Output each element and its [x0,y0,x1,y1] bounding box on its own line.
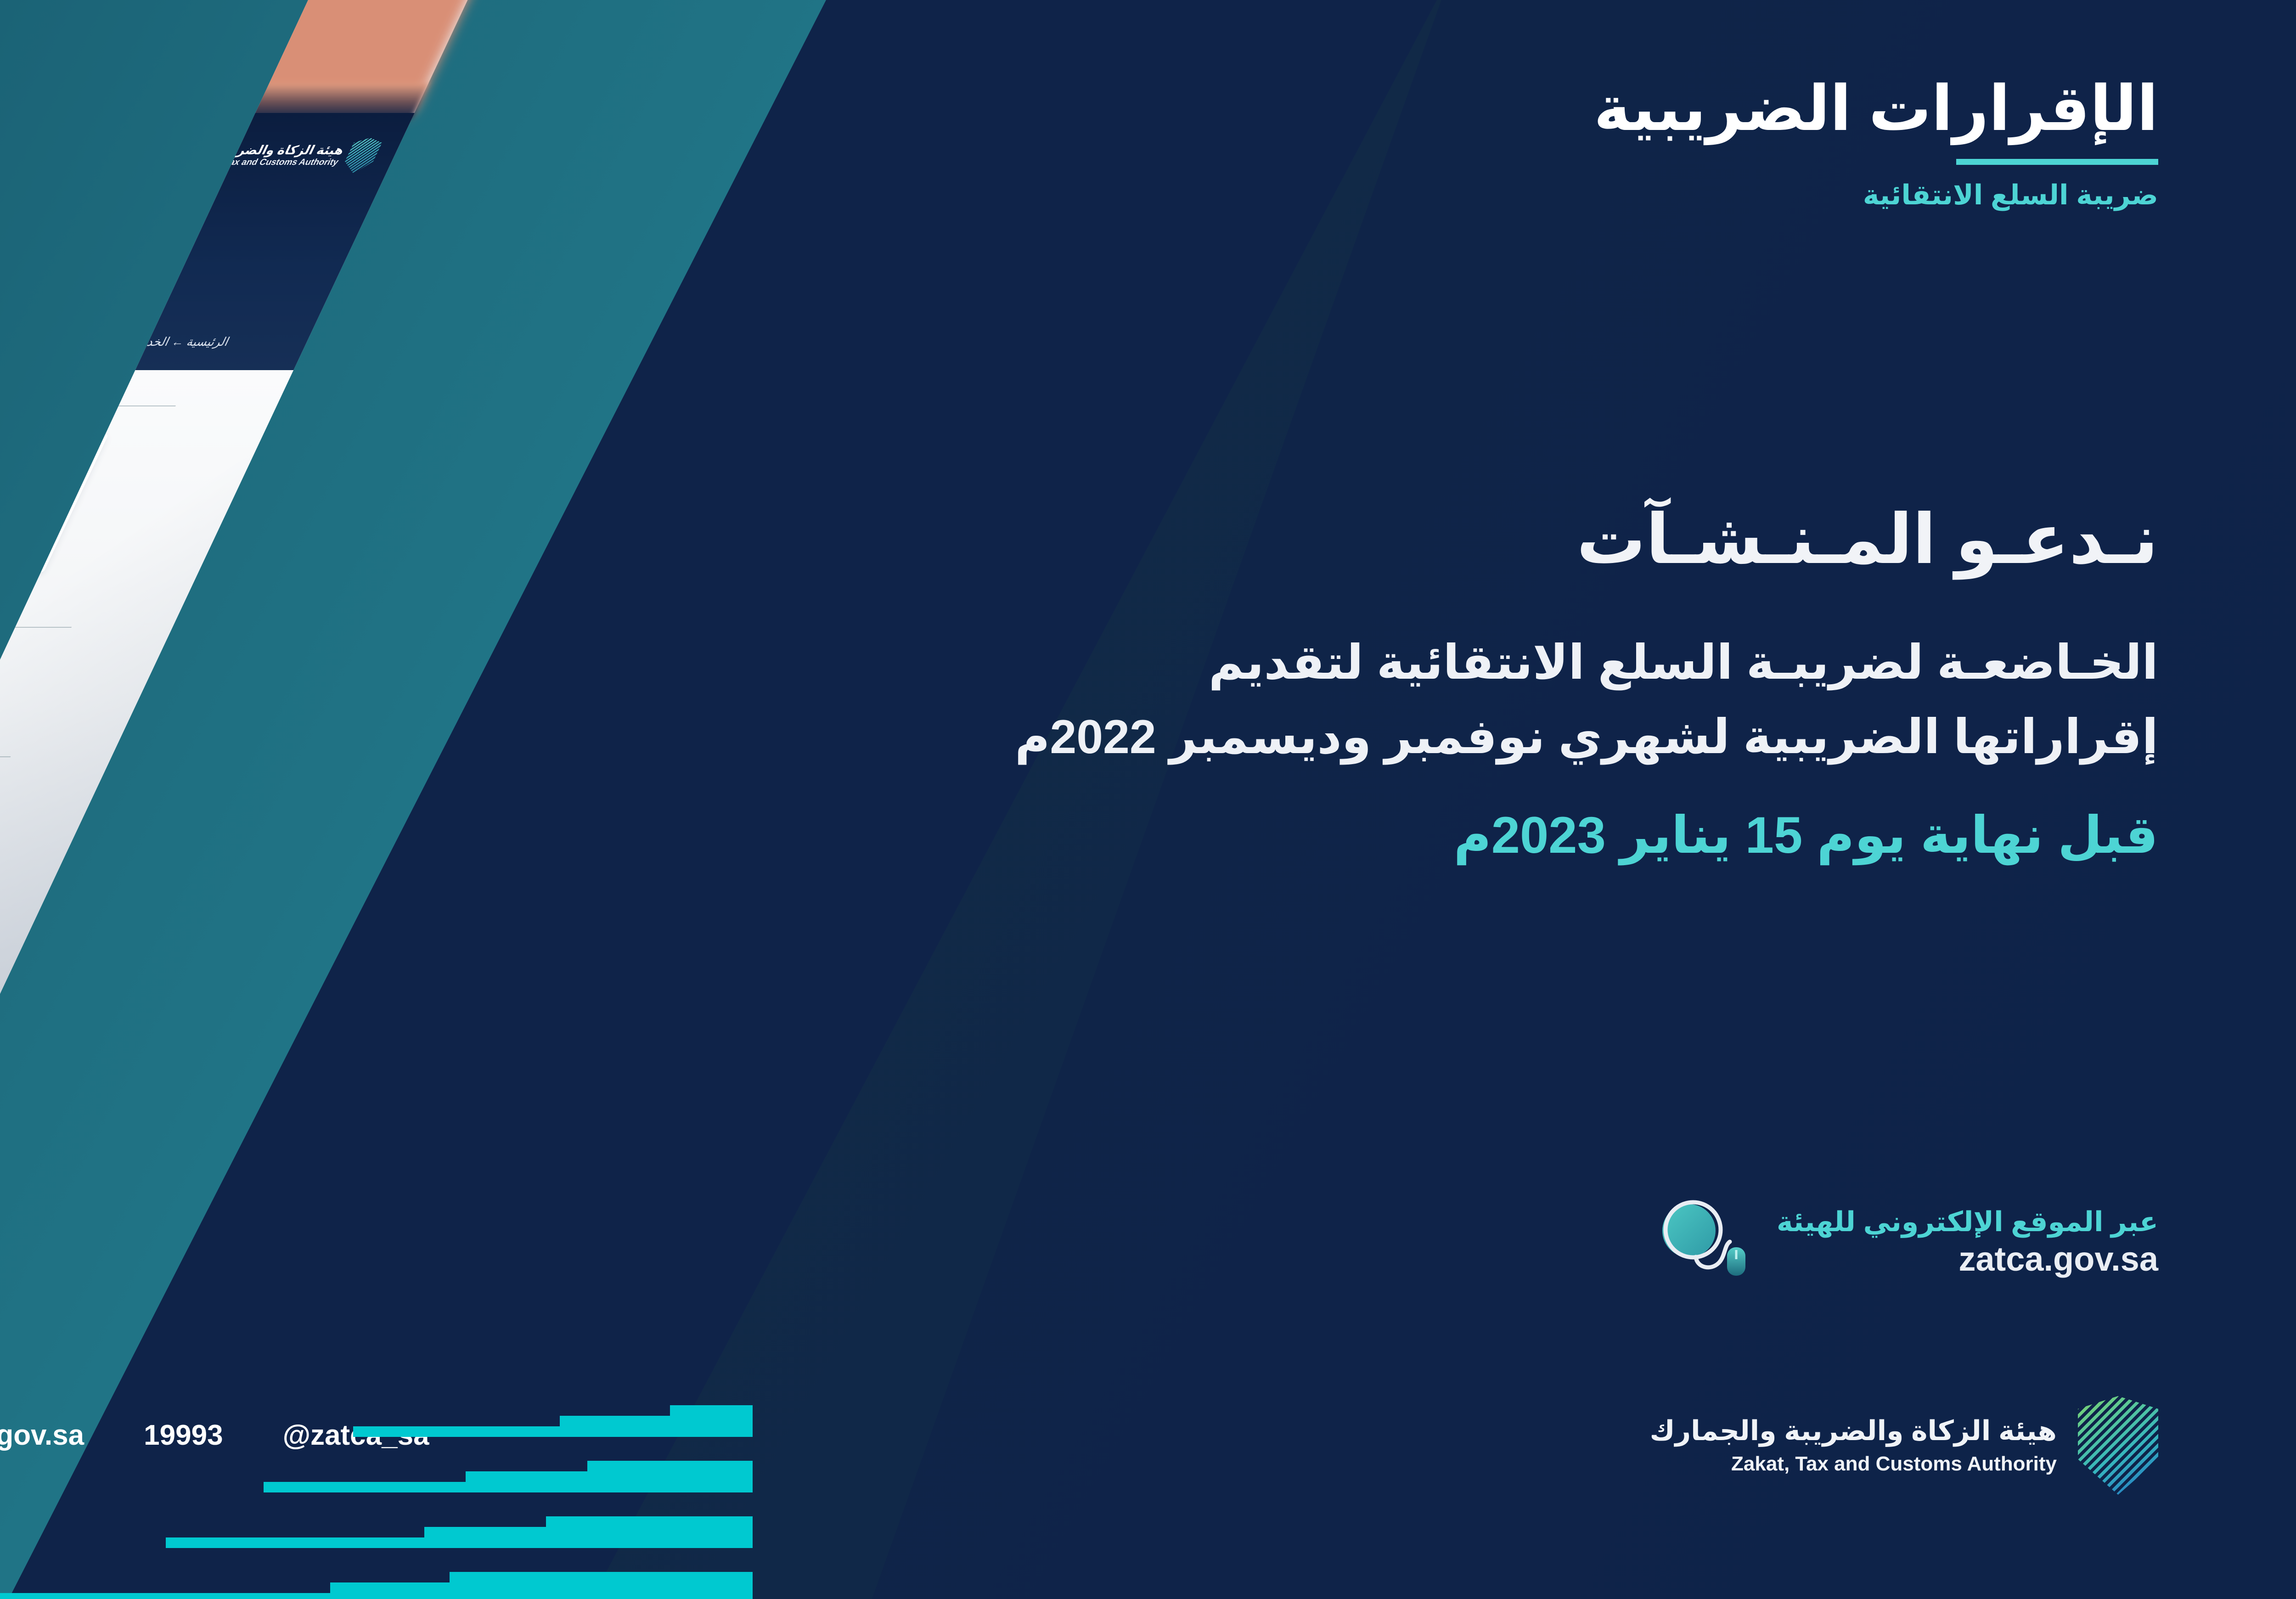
rule-left [0,756,11,757]
headline-deadline: قبل نهاية يوم 15 يناير 2023م [1015,802,2158,869]
decorative-bar-group [0,1461,753,1492]
activity-filter-chips: الكل (9) إلغاء التسجيل (2) تقديم الاعترا… [0,662,156,697]
decorative-bar-group [0,1516,753,1548]
decorative-bar [546,1516,753,1527]
decorative-bar [450,1572,753,1582]
decorative-bar [264,1482,753,1492]
available-services-section-title: الخدمات المتاحة [0,748,15,766]
footer-authority-logo: هيئة الزكاة والضريبة والجمارك Zakat, Tax… [1650,1396,2158,1495]
portal-url[interactable]: zatca.gov.sa [1777,1239,2158,1280]
decorative-bar [670,1405,753,1416]
kicker-subtitle: ضريبة السلع الانتقائية [1594,179,2158,212]
decorative-bar [424,1527,753,1537]
kicker-block: الإقرارات الضريبية ضريبة السلع الانتقائي… [1594,73,2158,212]
kicker-title: الإقرارات الضريبية [1594,73,2158,143]
kicker-underline [1956,159,2158,165]
footer-logo-english: Zakat, Tax and Customs Authority [1650,1451,2057,1476]
decorative-bar-group [0,1572,753,1599]
decorative-bar [560,1416,753,1426]
decorative-bars [0,1405,753,1599]
decorative-bar [587,1461,753,1471]
footer-logo-arabic: هيئة الزكاة والضريبة والجمارك [1650,1414,2057,1447]
globe-mouse-icon [1646,1194,1747,1290]
decorative-bar [466,1471,753,1482]
decorative-bar [0,1593,753,1599]
poster-canvas: هيئة الزكاة والضريبة والجمارك Zakat, Tax… [0,0,2296,1599]
headline-body-line-1: الخـاضعـة لضريبـة السلع الانتقائية لتقدي… [1015,628,2158,698]
decorative-bar-group [0,1405,753,1437]
shield-fingerprint-icon [2078,1396,2158,1495]
available-service-cards: طلب اعتراض على إعادة التقييم SAR دفع الض… [0,874,56,1118]
decorative-bar [166,1537,753,1548]
headline-block: نـدعـو المـنـشـآت الخـاضعـة لضريبـة السل… [1015,501,2158,868]
headline-body-line-2: إقراراتها الضريبية لشهري نوفمبر وديسمبر … [1015,703,2158,772]
headline-main: نـدعـو المـنـشـآت [1015,501,2158,578]
decorative-bar [353,1426,753,1437]
decorative-bar [330,1582,753,1593]
portal-label: عبر الموقع الإلكتروني للهيئة [1777,1205,2158,1239]
portal-block: عبر الموقع الإلكتروني للهيئة zatca.gov.s… [1646,1194,2158,1290]
